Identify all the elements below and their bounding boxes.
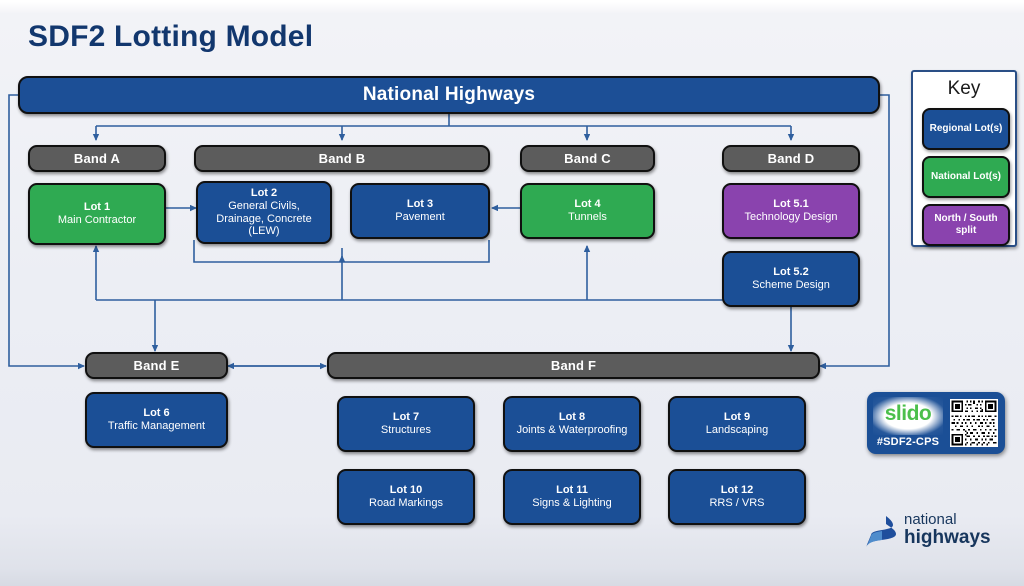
lot-3-card[interactable]: Lot 3 Pavement	[350, 183, 490, 239]
band-d[interactable]: Band D	[722, 145, 860, 172]
lot-9-card[interactable]: Lot 9 Landscaping	[668, 396, 806, 452]
lot-12-number: Lot 12	[721, 484, 753, 497]
lot-12-card[interactable]: Lot 12 RRS / VRS	[668, 469, 806, 525]
national-highways-label: National Highways	[363, 84, 535, 106]
lot-6-card[interactable]: Lot 6 Traffic Management	[85, 392, 228, 448]
lot-10-card[interactable]: Lot 10 Road Markings	[337, 469, 475, 525]
lot-7-number: Lot 7	[393, 411, 419, 424]
national-highways-chevron-icon	[866, 514, 900, 556]
band-f-label: Band F	[551, 358, 596, 373]
key-item-split-label: North / South split	[924, 213, 1008, 237]
band-f[interactable]: Band F	[327, 352, 820, 379]
lot-2-name-line1: General Civils,	[228, 200, 300, 213]
lot-12-name: RRS / VRS	[709, 497, 764, 510]
logo-line-2: highways	[904, 528, 991, 548]
national-highways-logo-text: national highways	[904, 512, 991, 548]
band-d-label: Band D	[768, 151, 815, 166]
band-a[interactable]: Band A	[28, 145, 166, 172]
lot-11-card[interactable]: Lot 11 Signs & Lighting	[503, 469, 641, 525]
slide-canvas: SDF2 Lotting Model	[0, 0, 1024, 586]
lot-7-name: Structures	[381, 424, 431, 437]
band-e-label: Band E	[134, 358, 180, 373]
lot-1-card[interactable]: Lot 1 Main Contractor	[28, 183, 166, 245]
lot-1-name: Main Contractor	[58, 214, 136, 227]
lot-2-number: Lot 2	[251, 187, 277, 200]
key-legend: Key Regional Lot(s) National Lot(s) Nort…	[911, 70, 1017, 247]
lot-5-1-name: Technology Design	[745, 211, 838, 224]
lot-11-name: Signs & Lighting	[532, 497, 612, 510]
lot-10-name: Road Markings	[369, 497, 443, 510]
band-c-label: Band C	[564, 151, 611, 166]
lot-5-1-number: Lot 5.1	[773, 198, 808, 211]
lot-5-2-card[interactable]: Lot 5.2 Scheme Design	[722, 251, 860, 307]
lot-9-name: Landscaping	[706, 424, 768, 437]
key-item-regional: Regional Lot(s)	[922, 108, 1010, 150]
lot-6-number: Lot 6	[143, 407, 169, 420]
lot-4-card[interactable]: Lot 4 Tunnels	[520, 183, 655, 239]
slido-brand: slido	[873, 402, 943, 426]
lot-3-name: Pavement	[395, 211, 445, 224]
lot-3-number: Lot 3	[407, 198, 433, 211]
lot-9-number: Lot 9	[724, 411, 750, 424]
lot-4-name: Tunnels	[568, 211, 607, 224]
lot-7-card[interactable]: Lot 7 Structures	[337, 396, 475, 452]
slido-hashtag: #SDF2-CPS	[871, 436, 945, 448]
band-b[interactable]: Band B	[194, 145, 490, 172]
key-item-regional-label: Regional Lot(s)	[930, 123, 1003, 135]
lot-4-number: Lot 4	[574, 198, 600, 211]
lot-2-name-line3: (LEW)	[248, 225, 279, 238]
key-title: Key	[913, 78, 1015, 100]
lot-5-1-card[interactable]: Lot 5.1 Technology Design	[722, 183, 860, 239]
national-highways-logo: national highways	[866, 512, 1006, 558]
lot-2-name-line2: Drainage, Concrete	[216, 213, 311, 226]
lot-5-2-number: Lot 5.2	[773, 266, 808, 279]
lot-10-number: Lot 10	[390, 484, 422, 497]
national-highways-header[interactable]: National Highways	[18, 76, 880, 114]
lot-8-card[interactable]: Lot 8 Joints & Waterproofing	[503, 396, 641, 452]
qr-code-icon[interactable]	[950, 399, 998, 447]
band-b-label: Band B	[319, 151, 366, 166]
lot-5-2-name: Scheme Design	[752, 279, 830, 292]
lot-1-number: Lot 1	[84, 201, 110, 214]
lot-8-name: Joints & Waterproofing	[517, 424, 628, 437]
band-e[interactable]: Band E	[85, 352, 228, 379]
logo-line-1: national	[904, 512, 991, 528]
key-item-national: National Lot(s)	[922, 156, 1010, 198]
lot-2-card[interactable]: Lot 2 General Civils, Drainage, Concrete…	[196, 181, 332, 244]
lot-6-name: Traffic Management	[108, 420, 205, 433]
key-item-split: North / South split	[922, 204, 1010, 246]
band-a-label: Band A	[74, 151, 120, 166]
band-c[interactable]: Band C	[520, 145, 655, 172]
slido-badge[interactable]: slido #SDF2-CPS	[867, 392, 1005, 454]
lot-11-number: Lot 11	[556, 484, 588, 497]
key-item-national-label: National Lot(s)	[931, 171, 1001, 183]
lot-8-number: Lot 8	[559, 411, 585, 424]
